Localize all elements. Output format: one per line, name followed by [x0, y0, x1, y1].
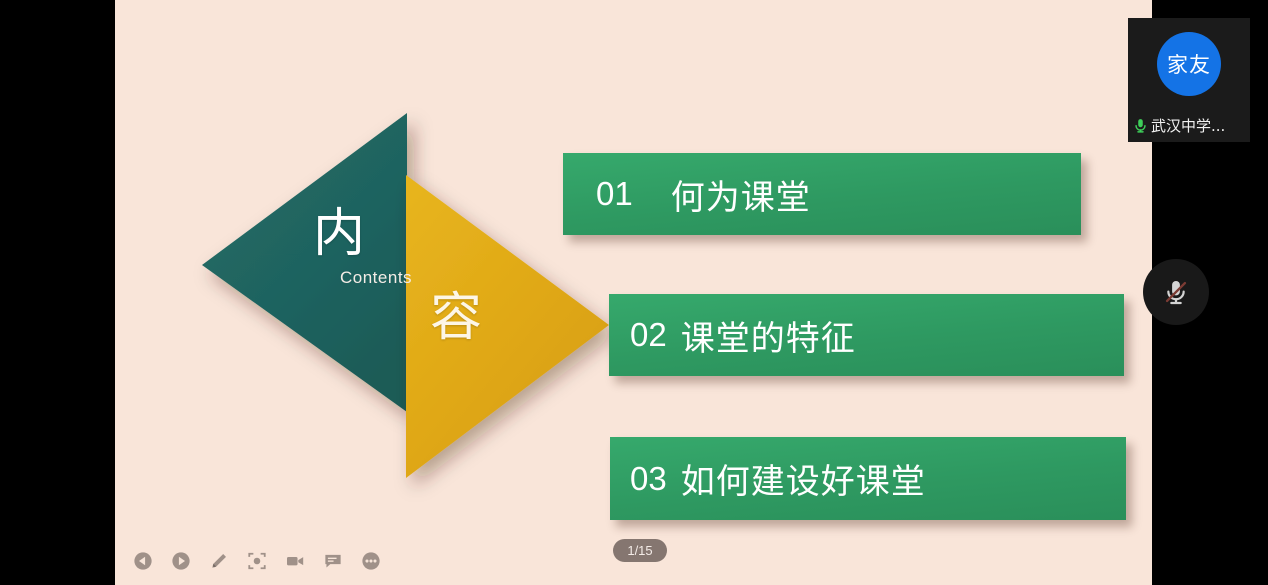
contents-subtitle: Contents [340, 268, 412, 288]
ellipsis-icon [361, 551, 381, 571]
slide-toolbar [132, 550, 382, 572]
laser-pointer-button[interactable] [246, 550, 268, 572]
previous-slide-button[interactable] [132, 550, 154, 572]
agenda-item-03-number: 03 [630, 460, 667, 498]
video-camera-icon [285, 551, 305, 571]
agenda-item-03: 03 如何建设好课堂 [610, 437, 1126, 520]
agenda-item-02-text: 课堂的特征 [681, 311, 856, 360]
chat-button[interactable] [322, 550, 344, 572]
annotate-button[interactable] [208, 550, 230, 572]
chat-bubble-icon [323, 551, 343, 571]
contents-heading-line2: 容 [430, 292, 483, 344]
record-button[interactable] [284, 550, 306, 572]
presentation-slide[interactable]: 内 Contents 容 01 何为课堂 02 课堂的特征 03 如何建设好课堂 [115, 0, 1152, 585]
page-indicator: 1/15 [613, 539, 667, 562]
avatar: 家友 [1157, 32, 1221, 96]
next-slide-button[interactable] [170, 550, 192, 572]
microphone-active-icon [1132, 117, 1149, 134]
participant-footer: 武汉中学... [1132, 115, 1225, 136]
agenda-item-01: 01 何为课堂 [563, 153, 1081, 235]
microphone-muted-icon [1159, 275, 1193, 309]
previous-icon [133, 551, 153, 571]
left-triangle-shape [202, 113, 407, 412]
agenda-item-01-text: 何为课堂 [671, 170, 811, 219]
agenda-item-01-number: 01 [596, 175, 633, 213]
pencil-icon [209, 551, 229, 571]
more-options-button[interactable] [360, 550, 382, 572]
meeting-screen-share-view: 内 Contents 容 01 何为课堂 02 课堂的特征 03 如何建设好课堂 [0, 0, 1268, 585]
agenda-item-02-number: 02 [630, 316, 667, 354]
avatar-initials: 家友 [1167, 49, 1211, 79]
laser-pointer-icon [247, 551, 267, 571]
play-icon [171, 551, 191, 571]
participant-video-tile[interactable]: 家友 武汉中学... [1128, 18, 1250, 142]
microphone-mute-toggle[interactable] [1143, 259, 1209, 325]
participant-name: 武汉中学... [1151, 115, 1225, 136]
agenda-item-02: 02 课堂的特征 [609, 294, 1124, 376]
agenda-item-03-text: 如何建设好课堂 [681, 454, 926, 503]
contents-heading-line1: 内 [313, 208, 366, 260]
